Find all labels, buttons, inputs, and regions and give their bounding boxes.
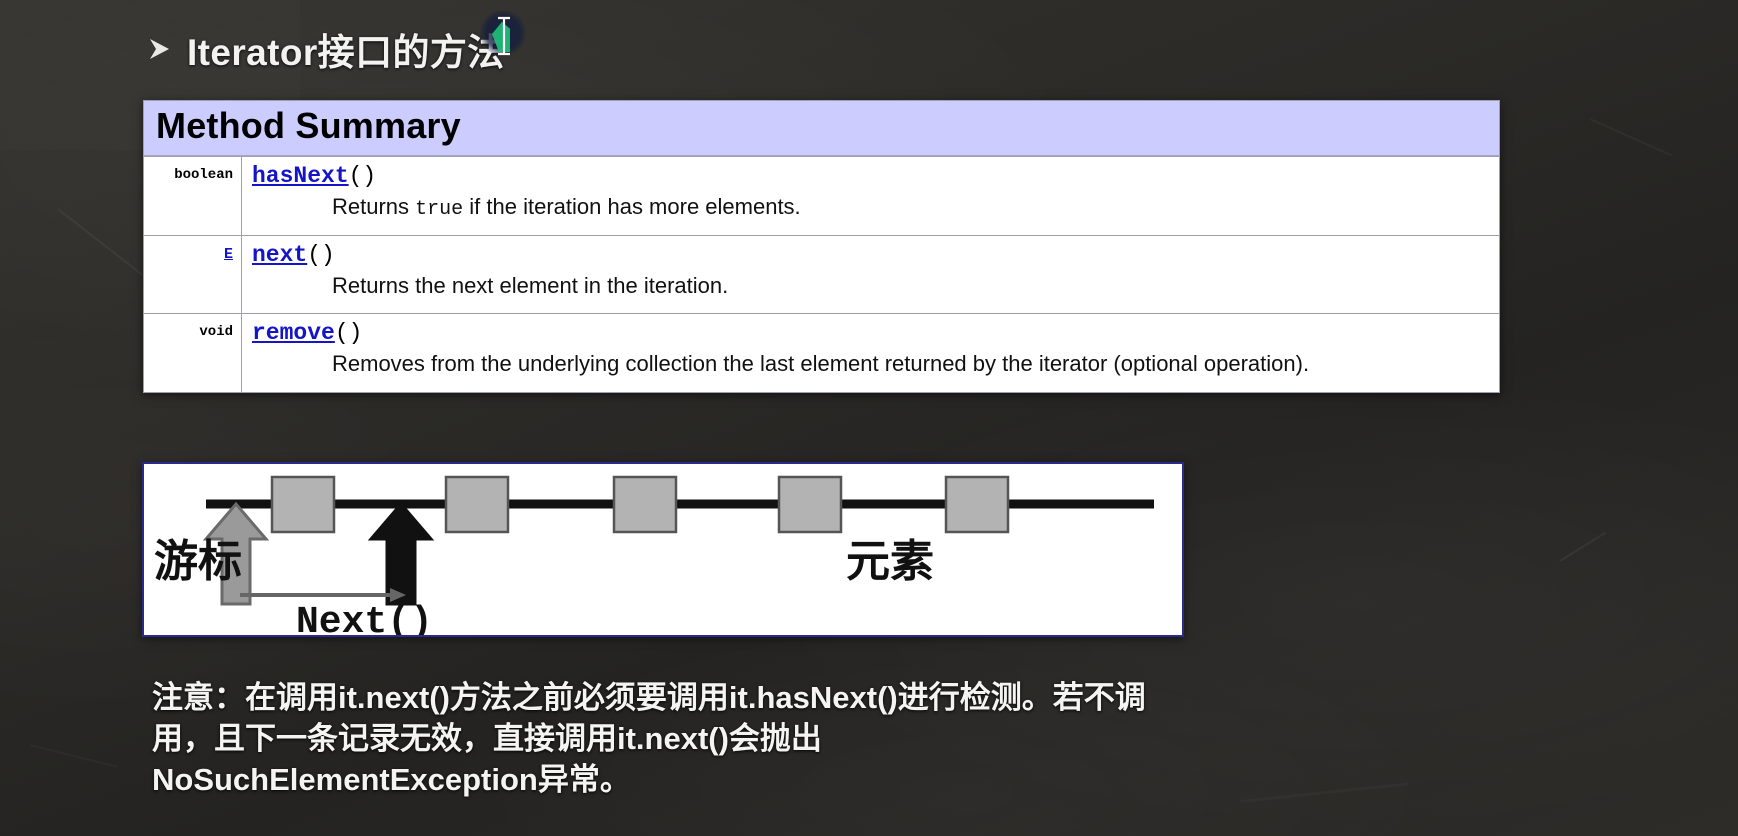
method-signature: remove()	[252, 320, 1489, 347]
method-return-type: void	[144, 314, 242, 392]
table-row: E next() Returns the next element in the…	[144, 235, 1499, 314]
desc-pre: Returns	[332, 194, 415, 219]
cursor-next-position-arrow	[371, 504, 431, 604]
desc-pre: Returns the next element in the iteratio…	[332, 273, 728, 298]
method-description: Returns true if the iteration has more e…	[252, 194, 1489, 222]
slide-title-row: Iterator接口的方法	[147, 22, 505, 76]
method-parens: ()	[349, 163, 377, 189]
element-box	[272, 477, 334, 532]
desc-pre: Removes from the underlying collection t…	[332, 351, 1309, 376]
desc-mono: true	[415, 198, 463, 221]
method-cell: remove() Removes from the underlying col…	[242, 314, 1499, 392]
scratch-mark	[57, 208, 153, 283]
method-signature: next()	[252, 242, 1489, 269]
method-summary-header: Method Summary	[144, 101, 1499, 156]
page-title: Iterator接口的方法	[187, 22, 505, 76]
desc-post: if the iteration has more elements.	[463, 194, 801, 219]
arrow-bullet-icon	[147, 34, 173, 64]
method-signature: hasNext()	[252, 163, 1489, 190]
scratch-mark	[1590, 118, 1673, 156]
note-line-1: 注意：在调用it.next()方法之前必须要调用it.hasNext()进行检测…	[152, 677, 1572, 718]
method-name-link[interactable]: next	[252, 242, 307, 268]
method-return-type: boolean	[144, 157, 242, 235]
method-name-link[interactable]: hasNext	[252, 163, 349, 189]
next-method-label: Next()	[296, 601, 433, 635]
diagram-canvas: 游标 元素 Next()	[144, 464, 1182, 635]
method-summary-table: Method Summary boolean hasNext() Returns…	[143, 100, 1500, 393]
cursor-label: 游标	[154, 537, 242, 586]
note-line-2: 用，且下一条记录无效，直接调用it.next()会抛出	[152, 718, 1572, 759]
method-description: Returns the next element in the iteratio…	[252, 273, 1489, 301]
scratch-mark	[30, 744, 118, 768]
method-parens: ()	[335, 320, 363, 346]
note-line-3: NoSuchElementException异常。	[152, 759, 1572, 800]
element-label: 元素	[846, 537, 934, 586]
method-parens: ()	[307, 242, 335, 268]
method-summary-header-label: Method Summary	[156, 107, 1499, 145]
method-description: Removes from the underlying collection t…	[252, 351, 1489, 379]
method-cell: hasNext() Returns true if the iteration …	[242, 157, 1499, 235]
table-row: void remove() Removes from the underlyin…	[144, 313, 1499, 392]
method-cell: next() Returns the next element in the i…	[242, 236, 1499, 314]
note-text-block: 注意：在调用it.next()方法之前必须要调用it.hasNext()进行检测…	[152, 677, 1572, 801]
table-row: boolean hasNext() Returns true if the it…	[144, 156, 1499, 235]
method-return-type-link[interactable]: E	[144, 236, 242, 314]
element-box	[779, 477, 841, 532]
element-box	[946, 477, 1008, 532]
iterator-cursor-diagram: 游标 元素 Next()	[142, 462, 1184, 637]
method-name-link[interactable]: remove	[252, 320, 335, 346]
element-box	[446, 477, 508, 532]
scratch-mark	[1559, 532, 1606, 562]
element-box	[614, 477, 676, 532]
